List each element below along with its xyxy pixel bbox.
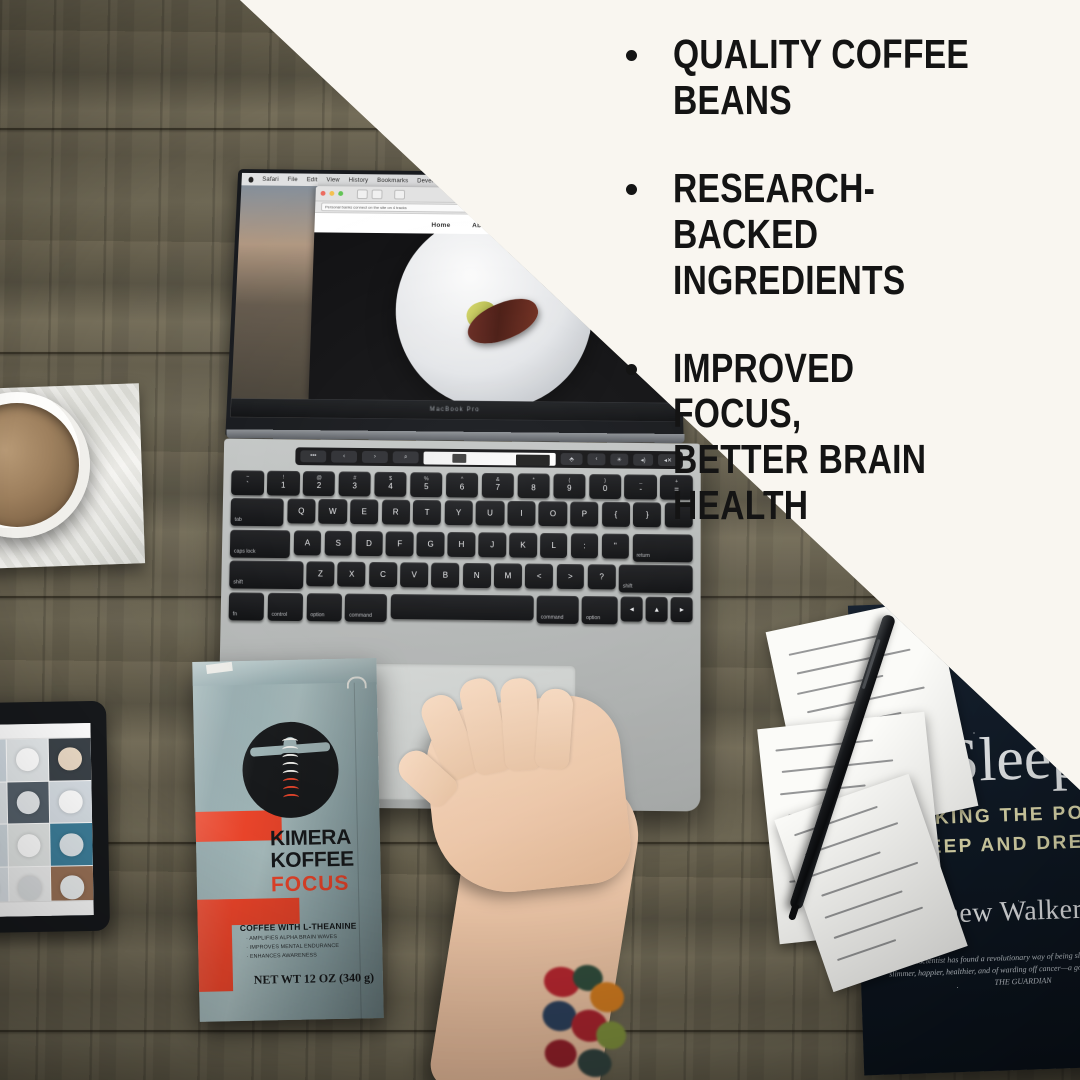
benefit-text: IMPROVED FOCUS, BETTER BRAIN HEALTH	[673, 346, 982, 530]
benefit-item: QUALITY COFFEE BEANS	[620, 32, 1050, 124]
bullet-dot-icon	[626, 50, 637, 61]
bullet-dot-icon	[626, 364, 637, 375]
benefit-item: RESEARCH-BACKED INGREDIENTS	[620, 166, 1050, 304]
benefit-item: IMPROVED FOCUS, BETTER BRAIN HEALTH	[620, 346, 1050, 530]
benefit-text: RESEARCH-BACKED INGREDIENTS	[673, 166, 982, 304]
product-feature-image: Safari File Edit View History Bookmarks …	[0, 0, 1080, 1080]
bullet-dot-icon	[626, 184, 637, 195]
benefit-list: QUALITY COFFEE BEANS RESEARCH-BACKED ING…	[620, 32, 1050, 571]
benefit-text: QUALITY COFFEE BEANS	[673, 32, 982, 124]
